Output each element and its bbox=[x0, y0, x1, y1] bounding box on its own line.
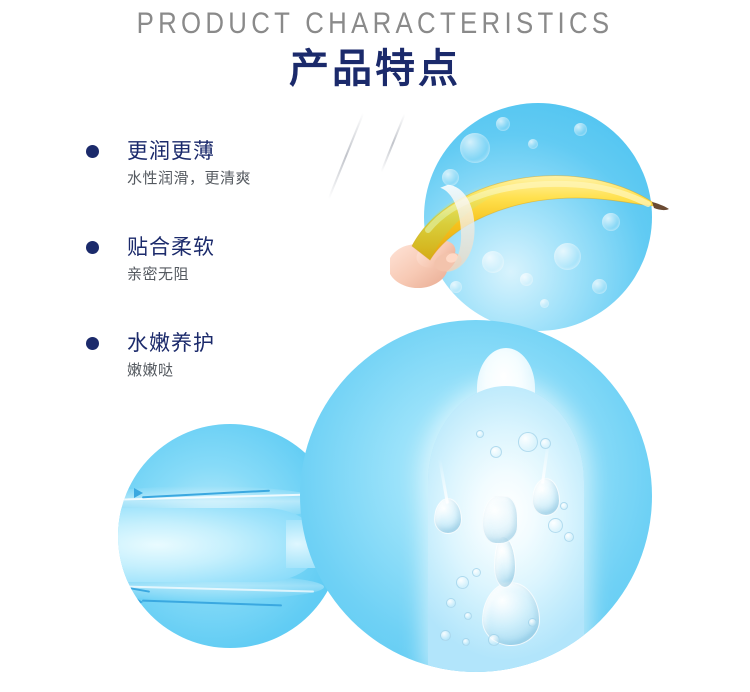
water-tail-left bbox=[438, 458, 449, 504]
bullet-dot-icon bbox=[86, 241, 99, 254]
feature-list: 更润更薄 水性润滑，更清爽 贴合柔软 亲密无阻 水嫩养护 嫩嫩哒 bbox=[86, 137, 251, 409]
page-title-chinese: 产品特点 bbox=[0, 45, 750, 93]
condom-water-drops-illustration bbox=[300, 320, 652, 672]
list-item: 贴合柔软 亲密无阻 bbox=[86, 233, 251, 287]
feature-subtitle: 水性润滑，更清爽 bbox=[127, 165, 251, 191]
condom-body-shape bbox=[428, 386, 584, 672]
feature-title: 水嫩养护 bbox=[127, 329, 251, 357]
feature-title: 贴合柔软 bbox=[127, 233, 251, 261]
page-title-english: PRODUCT CHARACTERISTICS bbox=[53, 5, 698, 43]
feature-subtitle: 亲密无阻 bbox=[127, 261, 251, 287]
list-item: 水嫩养护 嫩嫩哒 bbox=[86, 329, 251, 383]
banner-header: PRODUCT CHARACTERISTICS 产品特点 bbox=[0, 0, 750, 93]
bullet-dot-icon bbox=[86, 145, 99, 158]
water-drop-right bbox=[532, 478, 560, 516]
water-splash-top bbox=[482, 496, 518, 544]
banana-condom-demo-photo bbox=[424, 103, 652, 331]
feature-title: 更润更薄 bbox=[127, 137, 251, 165]
bullet-dot-icon bbox=[86, 337, 99, 350]
list-item: 更润更薄 水性润滑，更清爽 bbox=[86, 137, 251, 191]
decorative-slash-left bbox=[328, 113, 364, 199]
decorative-slash-right bbox=[380, 114, 405, 172]
product-characteristics-banner: PRODUCT CHARACTERISTICS 产品特点 更润更薄 水性润滑，更… bbox=[0, 0, 750, 692]
feature-subtitle: 嫩嫩哒 bbox=[127, 357, 251, 383]
